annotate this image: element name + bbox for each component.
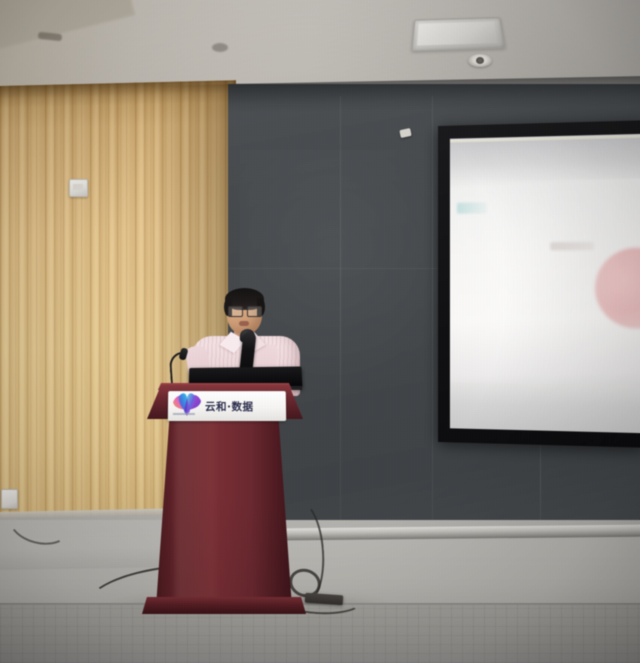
eyeglasses-icon [228,306,261,315]
downlight-icon [468,54,492,67]
vent-inner-panel [417,22,498,46]
podium-sheen [175,402,217,602]
eyeglasses-lens-right [247,306,262,317]
ceiling-vent-icon [411,17,505,51]
logo-underline [173,413,195,415]
podium-base [142,597,306,614]
podium [150,400,298,608]
podium-logo-text: 云和·数据 [205,399,254,414]
projection-screen-surface [450,134,640,434]
downlight-core [476,57,484,64]
wall-panel-seam [432,96,433,540]
eyeglasses-lens-left [228,306,243,317]
smoke-detector-icon [212,43,228,52]
projection-screen [438,120,640,448]
presentation-photo: 云和·数据 [0,0,640,663]
projector-light-wash [450,134,640,434]
speaker-mouth [239,321,249,326]
podium-logo-panel: 云和·数据 [168,391,286,421]
light-switch-plate-icon[interactable] [69,179,88,197]
wall-panel-seam [340,96,341,540]
